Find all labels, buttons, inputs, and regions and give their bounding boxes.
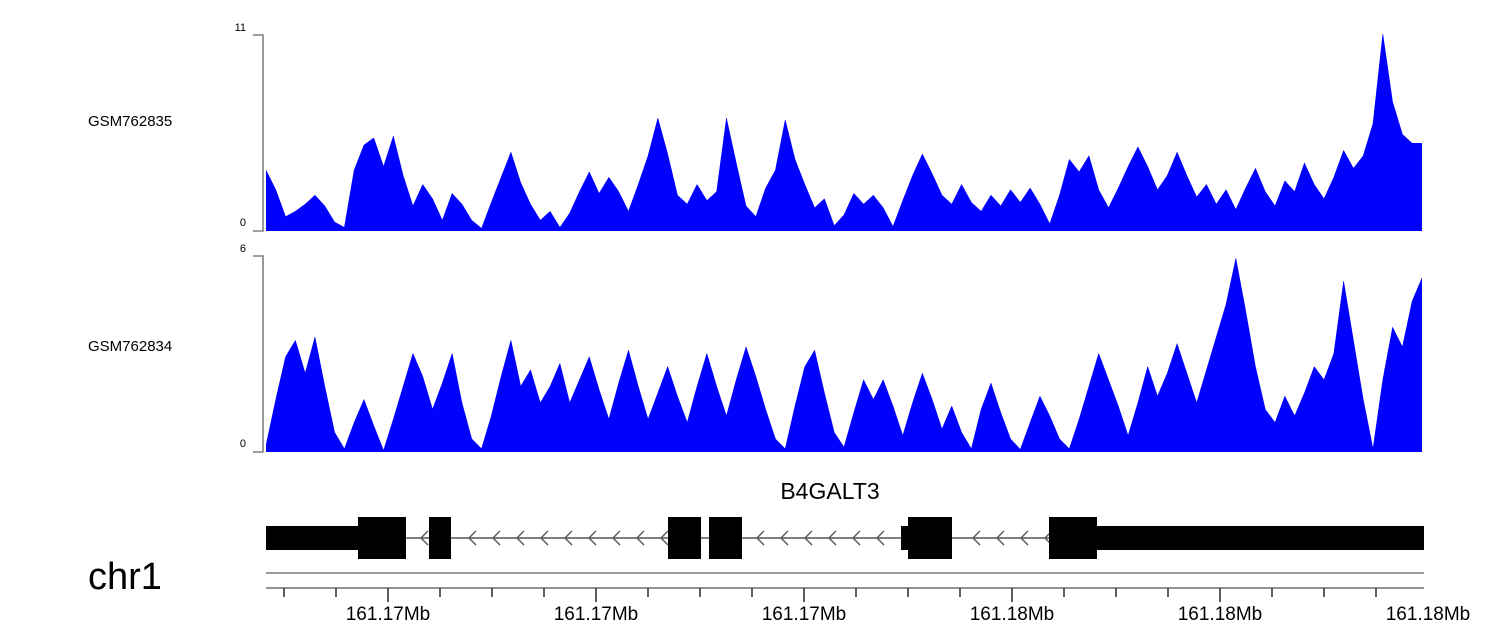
ruler-tick-label: 161.18Mb [942, 604, 1082, 626]
track2-axis-max: 6 [214, 243, 246, 255]
track-label-gsm762834: GSM762834 [88, 338, 172, 355]
track1-axis-bracket [252, 32, 266, 234]
coverage-plot-gsm762835[interactable] [266, 34, 1422, 231]
ruler-tick-label: 161.17Mb [734, 604, 874, 626]
genome-browser-view: GSM762835 11 0 GSM762834 6 0 B4GALT3 161… [0, 0, 1500, 640]
coverage-plot-gsm762834[interactable] [266, 255, 1422, 452]
ruler-tick-label: 161.17Mb [318, 604, 458, 626]
ruler-tick-label: 161.18Mb [1150, 604, 1290, 626]
chromosome-label: chr1 [88, 556, 162, 599]
gene-model[interactable] [260, 512, 1432, 564]
gene-name-label: B4GALT3 [730, 478, 930, 505]
track-label-gsm762835: GSM762835 [88, 113, 172, 130]
ruler-tick-label: 161.18Mb [1358, 604, 1498, 626]
track-separator-line [266, 572, 1424, 574]
track2-axis-min: 0 [214, 438, 246, 450]
track1-axis-min: 0 [214, 217, 246, 229]
track1-axis-max: 11 [214, 22, 246, 34]
track2-axis-bracket [252, 253, 266, 455]
ruler-tick-label: 161.17Mb [526, 604, 666, 626]
